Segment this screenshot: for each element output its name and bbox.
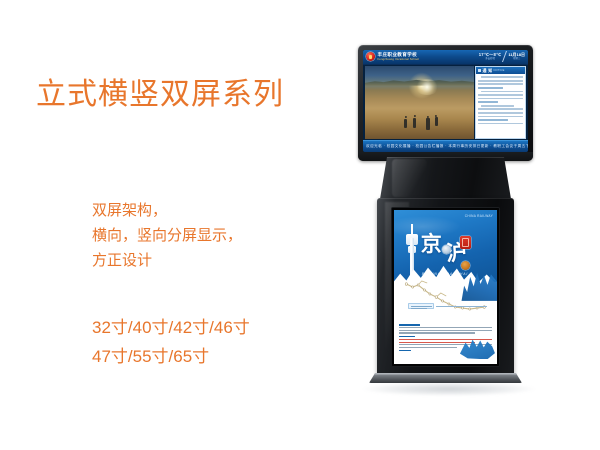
notice-text-line bbox=[478, 83, 523, 85]
notice-text-line bbox=[481, 76, 523, 78]
notice-text-line bbox=[478, 80, 523, 82]
size-spec-line-2: 47寸/55寸/65寸 bbox=[92, 342, 250, 371]
product-promo-slide: 立式横竖双屏系列 双屏架构， 横向，竖向分屏显示， 方正设计 32寸/40寸/4… bbox=[0, 0, 600, 450]
signage-content: 丰庄职业教育学校 Fengzhuang Vocational School 17… bbox=[363, 50, 528, 152]
size-spec-line-1: 32寸/40寸/42寸/46寸 bbox=[92, 313, 250, 342]
page-title: 立式横竖双屏系列 bbox=[36, 78, 284, 111]
hiker-figure bbox=[426, 118, 430, 130]
map-caption bbox=[436, 306, 487, 308]
signage-ticker-bar: 欢迎光临 · 校园文化展播 · 校园公告栏播报 · 本周行事历安排已更新 · 教… bbox=[363, 140, 528, 152]
hiker-figure bbox=[404, 119, 407, 128]
kiosk-product-image: 丰庄职业教育学校 Fengzhuang Vocational School 17… bbox=[355, 45, 545, 400]
seal-badge-gold bbox=[461, 261, 470, 270]
school-name-block: 丰庄职业教育学校 Fengzhuang Vocational School bbox=[378, 52, 420, 61]
signage-photo bbox=[365, 66, 474, 140]
signage-header-bar: 丰庄职业教育学校 Fengzhuang Vocational School 17… bbox=[363, 50, 528, 65]
notice-panel: 通 知 NOTICE bbox=[475, 66, 526, 140]
top-screen-display: 丰庄职业教育学校 Fengzhuang Vocational School 17… bbox=[363, 50, 528, 152]
notice-title-en: NOTICE bbox=[494, 69, 505, 72]
poster-paragraph-line bbox=[399, 332, 475, 333]
neck-gloss-highlight bbox=[392, 159, 427, 197]
poster-calligraphy: 京沪 bbox=[421, 233, 461, 254]
poster-paragraph-line-highlight bbox=[399, 339, 492, 340]
plinth-top-edge bbox=[369, 373, 522, 375]
notice-text-line bbox=[478, 87, 503, 89]
kiosk-base-plinth bbox=[369, 373, 522, 383]
school-emblem-icon bbox=[366, 52, 375, 61]
size-spec-list: 32寸/40寸/42寸/46寸 47寸/55寸/65寸 bbox=[92, 313, 250, 371]
weather-weekday: 星期三 bbox=[513, 58, 520, 61]
notice-text-line bbox=[481, 91, 523, 93]
caption-line bbox=[436, 306, 487, 307]
hiker-figure bbox=[435, 117, 438, 126]
notice-text-line bbox=[478, 108, 523, 110]
rail-route-map bbox=[400, 278, 491, 318]
notice-icon bbox=[478, 69, 482, 73]
poster-brand-label: CHINA RAILWAY bbox=[465, 214, 493, 218]
notice-panel-header: 通 知 NOTICE bbox=[476, 67, 525, 75]
feature-line-3: 方正设计 bbox=[92, 248, 242, 273]
notice-text-line bbox=[478, 112, 523, 114]
weather-temperature-block: 17℃～8℃ 多云转晴 bbox=[479, 53, 502, 61]
poster-paragraph-line bbox=[399, 330, 492, 331]
top-horizontal-monitor: 丰庄职业教育学校 Fengzhuang Vocational School 17… bbox=[358, 45, 533, 161]
calligraphy-char-jing: 京 bbox=[421, 231, 441, 256]
poster-footer-line bbox=[399, 350, 411, 351]
notice-text-line bbox=[481, 105, 514, 107]
floor-shadow bbox=[363, 382, 535, 396]
legend-line bbox=[411, 306, 432, 307]
bottom-vertical-screen: CHINA RAILWAY 京沪 BEIJING-SHANGHAI bbox=[392, 208, 499, 366]
feature-line-1: 双屏架构， bbox=[92, 198, 242, 223]
notice-text-line bbox=[478, 123, 523, 125]
poster-heading-1 bbox=[399, 324, 419, 326]
feature-list: 双屏架构， 横向，竖向分屏显示， 方正设计 bbox=[92, 198, 242, 273]
route-line-svg bbox=[400, 278, 491, 318]
hiker-figure bbox=[413, 118, 416, 128]
notice-panel-body bbox=[476, 74, 525, 138]
kiosk-cabinet: CHINA RAILWAY 京沪 BEIJING-SHANGHAI bbox=[377, 198, 514, 376]
weather-date-block: 11月18日 星期三 bbox=[508, 53, 525, 60]
weather-widget: 17℃～8℃ 多云转晴 11月18日 星期三 bbox=[479, 51, 525, 62]
sun-glow bbox=[415, 79, 439, 95]
poster-heading-2 bbox=[399, 336, 415, 338]
poster-paragraph-line bbox=[399, 327, 492, 328]
seal-badge-red bbox=[460, 236, 471, 249]
feature-line-2: 横向，竖向分屏显示， bbox=[92, 223, 242, 248]
notice-text-line bbox=[478, 101, 498, 103]
poster-paragraph-line-highlight bbox=[399, 342, 475, 343]
notice-text-line bbox=[478, 119, 507, 121]
signage-body: 通 知 NOTICE bbox=[363, 64, 528, 142]
notice-text-line bbox=[478, 98, 523, 100]
notice-text-line bbox=[478, 116, 523, 118]
school-name-en: Fengzhuang Vocational School bbox=[378, 58, 420, 61]
poster-paragraph-line bbox=[399, 347, 456, 348]
poster-content: CHINA RAILWAY 京沪 BEIJING-SHANGHAI bbox=[394, 210, 497, 364]
divider-slash-icon bbox=[502, 51, 507, 62]
weather-condition: 多云转晴 bbox=[485, 58, 495, 61]
ticker-text: 欢迎光临 · 校园文化展播 · 校园公告栏播报 · 本周行事历安排已更新 · 教… bbox=[363, 144, 528, 149]
notice-title-cn: 通 知 bbox=[482, 68, 492, 74]
notice-text-line bbox=[478, 94, 523, 96]
map-legend-box bbox=[408, 303, 434, 308]
